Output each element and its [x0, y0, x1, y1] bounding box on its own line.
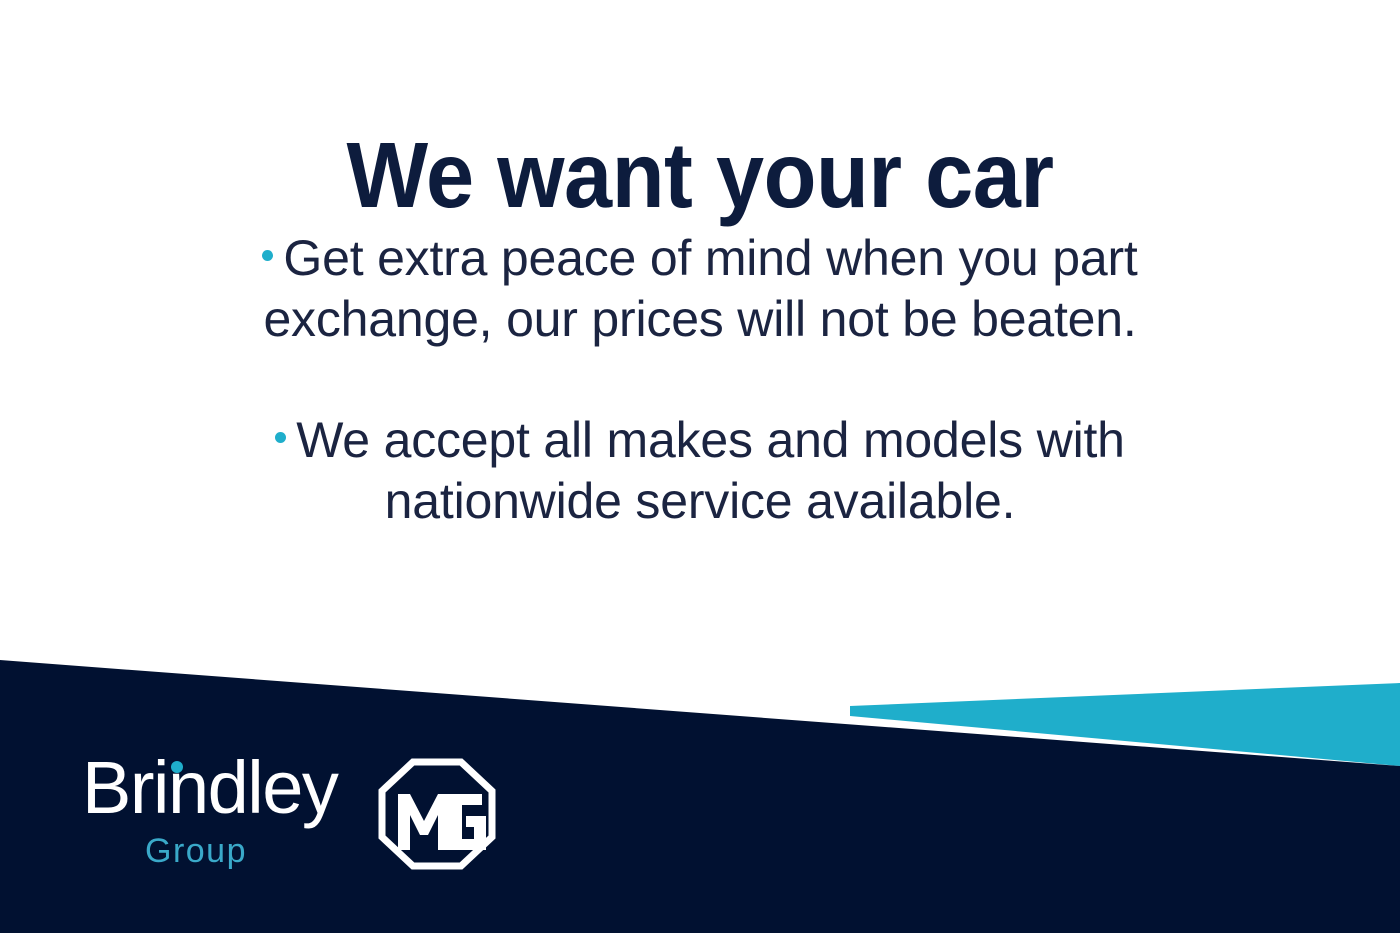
teal-wedge — [850, 683, 1400, 766]
brindley-group-logo: Brindley Group — [78, 752, 340, 868]
logo-lockup: Brindley Group — [78, 752, 496, 870]
bullet-dot-icon — [275, 432, 286, 443]
page-title: We want your car — [49, 128, 1351, 223]
brindley-wordmark: Brindley — [78, 752, 340, 823]
list-item: We accept all makes and models with nati… — [170, 410, 1230, 532]
promotional-slide: We want your car Get extra peace of mind… — [0, 0, 1400, 933]
brindley-group-subtext: Group — [78, 834, 340, 868]
list-item-label: Get extra peace of mind when you part ex… — [263, 230, 1137, 347]
brindley-i-dot-icon — [171, 761, 183, 773]
bullet-list: Get extra peace of mind when you part ex… — [170, 228, 1230, 532]
mg-logo-icon — [378, 758, 496, 870]
list-item: Get extra peace of mind when you part ex… — [170, 228, 1230, 350]
list-item-label: We accept all makes and models with nati… — [296, 412, 1125, 529]
bullet-dot-icon — [262, 250, 273, 261]
